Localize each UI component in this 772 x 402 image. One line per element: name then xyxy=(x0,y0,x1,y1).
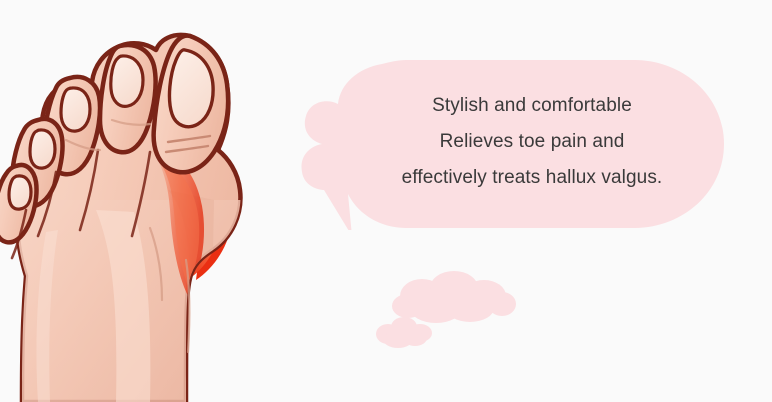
speech-bubble-text: Stylish and comfortable Relieves toe pai… xyxy=(352,88,712,196)
bunion-foot-illustration xyxy=(0,0,280,402)
third-toe-nail xyxy=(61,88,90,131)
thought-cloud-trail xyxy=(370,262,530,362)
thought-cloud-small xyxy=(376,317,432,348)
illustration-canvas: Stylish and comfortable Relieves toe pai… xyxy=(0,0,772,402)
second-toe-nail xyxy=(111,56,143,106)
thought-cloud-large xyxy=(392,271,516,323)
fourth-toe-nail xyxy=(30,130,55,168)
little-toe-nail xyxy=(9,176,31,209)
bubble-line-1: Stylish and comfortable xyxy=(352,88,712,124)
bubble-line-3: effectively treats hallux valgus. xyxy=(352,160,712,196)
bubble-line-2: Relieves toe pain and xyxy=(352,124,712,160)
